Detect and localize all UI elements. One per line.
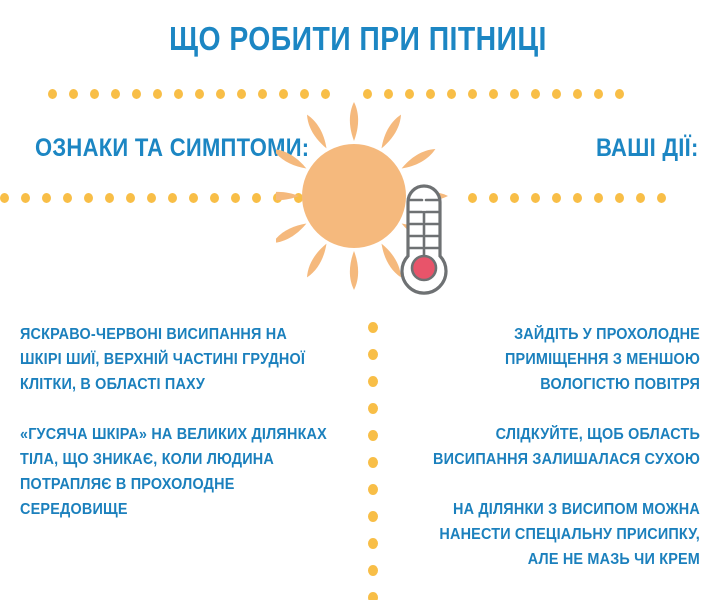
divider-dot: [368, 322, 378, 333]
divider-dot: [384, 89, 393, 99]
divider-dot: [368, 565, 378, 576]
dotted-divider-vertical: [367, 322, 378, 600]
divider-dot: [363, 89, 372, 99]
divider-dot: [368, 484, 378, 495]
divider-dot: [63, 193, 72, 203]
divider-dot: [279, 89, 288, 99]
dotted-divider-second-right: [468, 192, 666, 203]
divider-dot: [368, 376, 378, 387]
divider-dot: [300, 89, 309, 99]
divider-dot: [342, 89, 351, 99]
divider-dot: [105, 193, 114, 203]
divider-dot: [405, 89, 414, 99]
divider-dot: [321, 89, 330, 99]
divider-dot: [531, 89, 540, 99]
divider-dot: [237, 89, 246, 99]
divider-dot: [368, 430, 378, 441]
divider-dot: [368, 511, 378, 522]
divider-dot: [636, 193, 645, 203]
list-item: ЗАЙДІТЬ У ПРОХОЛОДНЕ ПРИМІЩЕННЯ З МЕНШОЮ…: [392, 322, 700, 397]
divider-dot: [657, 193, 666, 203]
divider-dot: [84, 193, 93, 203]
divider-dot: [594, 193, 603, 203]
divider-dot: [189, 193, 198, 203]
divider-dot: [368, 403, 378, 414]
divider-dot: [368, 592, 378, 600]
divider-dot: [573, 193, 582, 203]
divider-dot: [552, 193, 561, 203]
divider-dot: [510, 193, 519, 203]
divider-dot: [132, 89, 141, 99]
divider-dot: [111, 89, 120, 99]
sun-thermometer-illustration: [276, 100, 476, 296]
divider-dot: [258, 89, 267, 99]
divider-dot: [489, 89, 498, 99]
divider-dot: [368, 457, 378, 468]
divider-dot: [0, 193, 9, 203]
list-item: НА ДІЛЯНКИ З ВИСИПОМ МОЖНА НАНЕСТИ СПЕЦІ…: [392, 497, 700, 572]
divider-dot: [468, 89, 477, 99]
section-heading-signs: ОЗНАКИ ТА СИМПТОМИ:: [35, 134, 309, 162]
page-title: ЩО РОБИТИ ПРИ ПІТНИЦІ: [50, 20, 666, 58]
divider-dot: [252, 193, 261, 203]
divider-dot: [510, 89, 519, 99]
divider-dot: [147, 193, 156, 203]
list-item: ЯСКРАВО-ЧЕРВОНІ ВИСИПАННЯ НА ШКІРІ ШИЇ, …: [20, 322, 356, 397]
dotted-divider-top: [48, 88, 624, 99]
divider-dot: [195, 89, 204, 99]
thermometer-icon: [402, 186, 446, 293]
divider-dot: [552, 89, 561, 99]
divider-dot: [447, 89, 456, 99]
list-item: СЛІДКУЙТЕ, ЩОБ ОБЛАСТЬ ВИСИПАННЯ ЗАЛИШАЛ…: [392, 422, 700, 472]
divider-dot: [42, 193, 51, 203]
actions-column: ЗАЙДІТЬ У ПРОХОЛОДНЕ ПРИМІЩЕННЯ З МЕНШОЮ…: [392, 322, 700, 572]
infographic-poster: ЩО РОБИТИ ПРИ ПІТНИЦІ ОЗНАКИ ТА СИМПТОМИ…: [0, 0, 716, 600]
divider-dot: [531, 193, 540, 203]
divider-dot: [368, 538, 378, 549]
divider-dot: [216, 89, 225, 99]
divider-dot: [368, 349, 378, 360]
divider-dot: [21, 193, 30, 203]
divider-dot: [231, 193, 240, 203]
divider-dot: [48, 89, 57, 99]
list-item: «ГУСЯЧА ШКІРА» НА ВЕЛИКИХ ДІЛЯНКАХ ТІЛА,…: [20, 422, 356, 522]
divider-dot: [615, 193, 624, 203]
divider-dot: [210, 193, 219, 203]
divider-dot: [126, 193, 135, 203]
section-heading-actions: ВАШІ ДІЇ:: [596, 134, 699, 162]
divider-dot: [489, 193, 498, 203]
divider-dot: [90, 89, 99, 99]
divider-dot: [69, 89, 78, 99]
divider-dot: [426, 89, 435, 99]
divider-dot: [573, 89, 582, 99]
divider-dot: [168, 193, 177, 203]
divider-dot: [174, 89, 183, 99]
divider-dot: [615, 89, 624, 99]
divider-dot: [153, 89, 162, 99]
divider-dot: [594, 89, 603, 99]
signs-column: ЯСКРАВО-ЧЕРВОНІ ВИСИПАННЯ НА ШКІРІ ШИЇ, …: [20, 322, 356, 522]
